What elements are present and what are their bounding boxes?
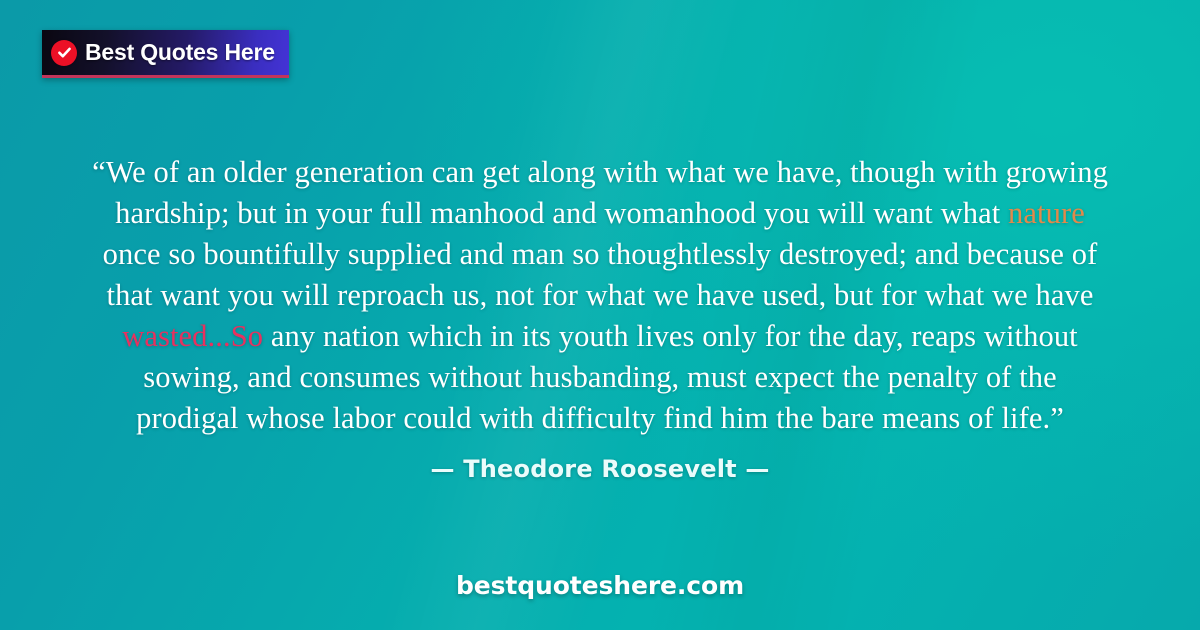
- brand-badge[interactable]: Best Quotes Here: [42, 30, 289, 78]
- quote-highlight-nature: nature: [1008, 196, 1085, 230]
- quote-line: hardship; but in your full manhood and w…: [60, 193, 1140, 234]
- quote-segment: once so bountifully supplied and man so …: [103, 237, 1098, 271]
- quote-attribution: — Theodore Roosevelt —: [0, 455, 1200, 483]
- quote-segment: prodigal whose labor could with difficul…: [136, 401, 1064, 435]
- footer-website: bestquoteshere.com: [0, 571, 1200, 600]
- quote-text: “We of an older generation can get along…: [60, 152, 1140, 439]
- quote-highlight-wasted: wasted...So: [122, 319, 263, 353]
- quote-card: Best Quotes Here “We of an older generat…: [0, 0, 1200, 630]
- quote-segment: hardship; but in your full manhood and w…: [115, 196, 1008, 230]
- quote-line: “We of an older generation can get along…: [60, 152, 1140, 193]
- quote-segment: “We of an older generation can get along…: [92, 155, 1108, 189]
- brand-label: Best Quotes Here: [85, 39, 275, 66]
- quote-line: once so bountifully supplied and man so …: [60, 234, 1140, 275]
- check-circle-icon: [51, 40, 77, 66]
- quote-segment: any nation which in its youth lives only…: [263, 319, 1078, 353]
- quote-segment: that want you will reproach us, not for …: [107, 278, 1094, 312]
- quote-line: prodigal whose labor could with difficul…: [60, 398, 1140, 439]
- quote-segment: sowing, and consumes without husbanding,…: [143, 360, 1056, 394]
- quote-line: sowing, and consumes without husbanding,…: [60, 357, 1140, 398]
- quote-line: wasted...So any nation which in its yout…: [60, 316, 1140, 357]
- quote-line: that want you will reproach us, not for …: [60, 275, 1140, 316]
